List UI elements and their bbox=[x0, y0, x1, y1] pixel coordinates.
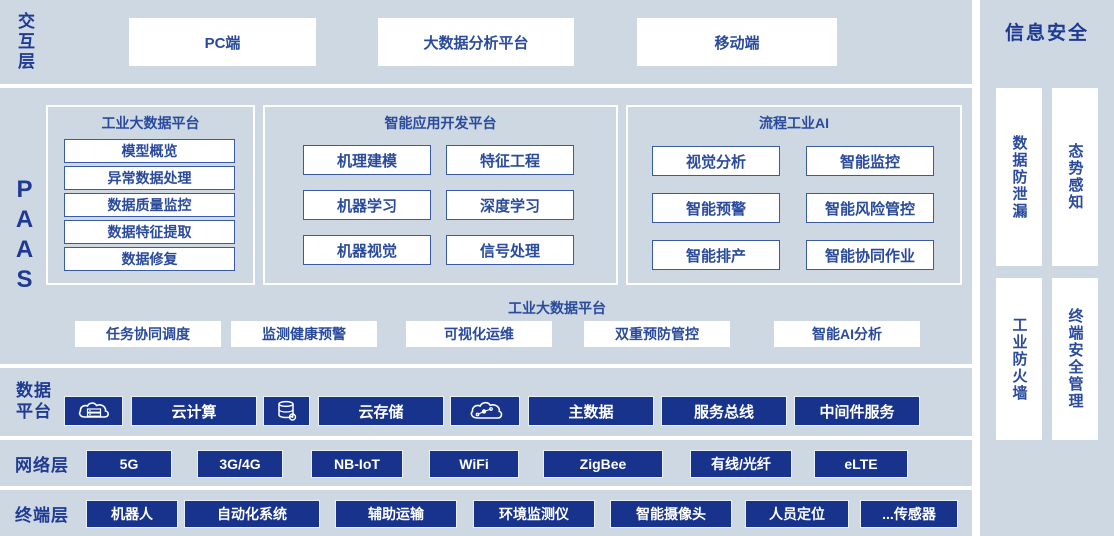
interaction-layer-label: 交 互 层 bbox=[4, 4, 50, 80]
cloud-server-icon bbox=[64, 396, 123, 426]
paas-item-smart-monitoring[interactable]: 智能监控 bbox=[806, 146, 934, 176]
network-item-zigbee[interactable]: ZigBee bbox=[543, 450, 663, 478]
security-item-situation-awareness[interactable]: 态势感知 bbox=[1052, 88, 1098, 266]
cloud-data-icon bbox=[450, 396, 520, 426]
paas-item-model-overview[interactable]: 模型概览 bbox=[64, 139, 235, 163]
network-item-wifi[interactable]: WiFi bbox=[429, 450, 519, 478]
network-item-elte[interactable]: eLTE bbox=[814, 450, 908, 478]
data-platform-label-line1: 数据 bbox=[16, 381, 52, 402]
security-item-endpoint-security[interactable]: 终端安全管理 bbox=[1052, 278, 1098, 440]
paas-item-signal-processing[interactable]: 信号处理 bbox=[446, 235, 574, 265]
network-layer-label: 网络层 bbox=[4, 448, 80, 478]
paas-item-risk-control[interactable]: 智能风险管控 bbox=[806, 193, 934, 223]
paas-item-abnormal-data[interactable]: 异常数据处理 bbox=[64, 166, 235, 190]
architecture-diagram: 交 互 层 PC端 大数据分析平台 移动端 P A A S 工业大数据平台 模型… bbox=[0, 0, 1114, 536]
network-item-5g[interactable]: 5G bbox=[86, 450, 172, 478]
terminal-item-smart-camera[interactable]: 智能摄像头 bbox=[610, 500, 732, 528]
paas-bottom-item-visual-ops[interactable]: 可视化运维 bbox=[406, 321, 552, 347]
security-item-label: 工业防火墙 bbox=[1009, 317, 1030, 402]
terminal-item-automation[interactable]: 自动化系统 bbox=[184, 500, 320, 528]
terminal-item-transport[interactable]: 辅助运输 bbox=[335, 500, 457, 528]
interaction-item-bigdata[interactable]: 大数据分析平台 bbox=[378, 18, 574, 66]
security-item-label: 数据防泄漏 bbox=[1009, 135, 1030, 220]
terminal-item-personnel-locating[interactable]: 人员定位 bbox=[745, 500, 849, 528]
paas-item-mechanism-modeling[interactable]: 机理建模 bbox=[303, 145, 431, 175]
data-platform-layer-label: 数据 平台 bbox=[4, 378, 64, 426]
terminal-layer-label: 终端层 bbox=[4, 498, 80, 528]
paas-label-a2: A bbox=[16, 235, 34, 265]
paas-item-data-quality[interactable]: 数据质量监控 bbox=[64, 193, 235, 217]
terminal-item-env-monitor[interactable]: 环境监测仪 bbox=[473, 500, 595, 528]
security-item-label: 态势感知 bbox=[1065, 143, 1086, 211]
paas-item-deep-learning[interactable]: 深度学习 bbox=[446, 190, 574, 220]
security-sidebar bbox=[980, 0, 1114, 536]
network-item-fiber[interactable]: 有线/光纤 bbox=[690, 450, 792, 478]
paas-item-feature-extract[interactable]: 数据特征提取 bbox=[64, 220, 235, 244]
paas-bottom-item-dual-prevention[interactable]: 双重预防管控 bbox=[584, 321, 730, 347]
sidebar-divider bbox=[972, 0, 976, 536]
paas-label-s: S bbox=[16, 265, 33, 295]
data-platform-label-line2: 平台 bbox=[16, 402, 52, 423]
data-platform-item-middleware[interactable]: 中间件服务 bbox=[794, 396, 920, 426]
interaction-item-pc[interactable]: PC端 bbox=[129, 18, 316, 66]
paas-item-collaborative-ops[interactable]: 智能协同作业 bbox=[806, 240, 934, 270]
data-platform-item-master-data[interactable]: 主数据 bbox=[528, 396, 654, 426]
security-item-industrial-firewall[interactable]: 工业防火墙 bbox=[996, 278, 1042, 440]
paas-item-machine-vision[interactable]: 机器视觉 bbox=[303, 235, 431, 265]
interaction-label-c1: 交 bbox=[18, 12, 36, 32]
paas-label-a1: A bbox=[16, 205, 34, 235]
interaction-label-c2: 互 bbox=[18, 32, 36, 52]
paas-item-data-repair[interactable]: 数据修复 bbox=[64, 247, 235, 271]
paas-item-smart-scheduling[interactable]: 智能排产 bbox=[652, 240, 780, 270]
paas-layer-label: P A A S bbox=[4, 170, 46, 300]
panel-title: 工业大数据平台 bbox=[48, 113, 253, 133]
interaction-label-c3: 层 bbox=[18, 52, 36, 72]
terminal-item-robot[interactable]: 机器人 bbox=[86, 500, 178, 528]
security-title: 信息安全 bbox=[980, 18, 1114, 45]
network-item-nbiot[interactable]: NB-IoT bbox=[311, 450, 403, 478]
data-platform-item-service-bus[interactable]: 服务总线 bbox=[661, 396, 787, 426]
panel-title: 流程工业AI bbox=[628, 113, 960, 133]
interaction-item-mobile[interactable]: 移动端 bbox=[637, 18, 837, 66]
data-platform-item-cloud-computing[interactable]: 云计算 bbox=[131, 396, 257, 426]
paas-item-smart-warning[interactable]: 智能预警 bbox=[652, 193, 780, 223]
panel-title: 智能应用开发平台 bbox=[265, 113, 616, 133]
security-item-label: 终端安全管理 bbox=[1065, 308, 1086, 410]
paas-bottom-item-ai-analysis[interactable]: 智能AI分析 bbox=[774, 321, 920, 347]
paas-item-machine-learning[interactable]: 机器学习 bbox=[303, 190, 431, 220]
data-platform-item-cloud-storage[interactable]: 云存储 bbox=[318, 396, 444, 426]
security-item-data-leak-prevention[interactable]: 数据防泄漏 bbox=[996, 88, 1042, 266]
paas-bottom-title: 工业大数据平台 bbox=[0, 298, 1114, 318]
paas-label-p: P bbox=[16, 175, 33, 205]
paas-item-visual-analysis[interactable]: 视觉分析 bbox=[652, 146, 780, 176]
database-gear-icon bbox=[263, 396, 310, 426]
network-item-3g4g[interactable]: 3G/4G bbox=[197, 450, 283, 478]
paas-item-feature-engineering[interactable]: 特征工程 bbox=[446, 145, 574, 175]
paas-bottom-item-task-scheduling[interactable]: 任务协同调度 bbox=[75, 321, 221, 347]
paas-bottom-item-health-warning[interactable]: 监测健康预警 bbox=[231, 321, 377, 347]
terminal-item-sensors[interactable]: ...传感器 bbox=[860, 500, 958, 528]
